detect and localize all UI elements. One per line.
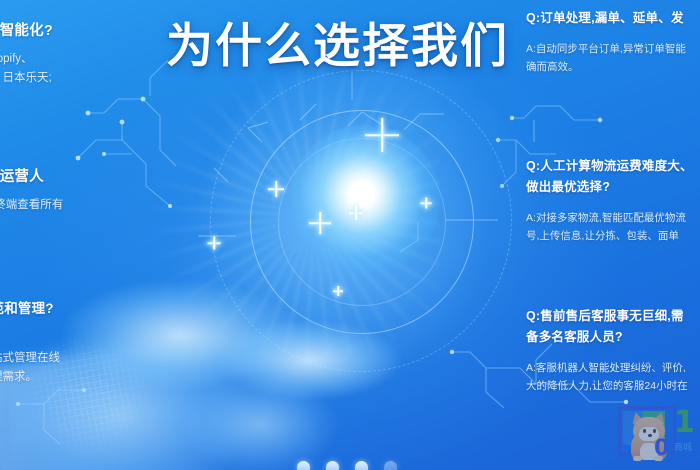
qa-question: Q:订单处理,漏单、延单、发 [526,8,700,29]
qa-question: Q:人工计算物流运费难度大、 做出最优选择? [526,156,700,198]
bottom-icon [384,461,397,470]
feature-block: 功能繁琐,欠智能化? 计,深度对接Shopify、 wish、速卖通、日本乐天; [0,22,207,88]
feature-title: 码无统一规范和管理? 繁琐无效率? [0,298,207,340]
feature-body-line: 天的工作量,多终端查看所有 [0,196,207,215]
bottom-icon [297,461,310,470]
feature-title: 全手动统计,运营人 [0,168,207,187]
qa-answer: A:对接多家物流,智能匹配最优物流 号,上传信息,让分拣、包装、面单 [526,209,700,245]
qa-question-line: Q:售前售后客服事无巨细,需 [526,306,700,327]
feature-body-line: 批量导入。一站式管理在线 [0,349,207,368]
watermark-digit-zero: 0 [654,438,669,460]
qa-answer-line: 确而高效。 [526,58,700,76]
watermark: 0 1 商城 [612,402,700,464]
qa-question: Q:售前售后客服事无巨细,需 备多名客服人员? [526,306,700,348]
qa-block: Q:人工计算物流运费难度大、 做出最优选择? A:对接多家物流,智能匹配最优物流… [526,156,700,245]
bottom-icon-row [297,461,397,470]
qa-question-line: Q:人工计算物流运费难度大、 [526,156,700,177]
mascot-eye-right [653,429,656,433]
feature-block: 码无统一规范和管理? 繁琐无效率? 批量导入。一站式管理在线 样化的产品管理需求… [0,298,207,387]
light-core [290,125,440,275]
bottom-icon [355,461,368,470]
feature-block: 全手动统计,运营人 天的工作量,多终端查看所有 情况。 [0,168,207,234]
watermark-caption: 商城 [674,442,692,453]
feature-body: 批量导入。一站式管理在线 样化的产品管理需求。 [0,349,207,387]
feature-body-line: 样化的产品管理需求。 [0,368,207,387]
feature-body: 计,深度对接Shopify、 wish、速卖通、日本乐天; [0,50,207,88]
watermark-digit-one: 1 [674,408,695,438]
qa-question-line: 备多名客服人员? [526,327,700,348]
hand-reaching-glowing-light-graphic [150,95,550,470]
mascot-paw-left [633,456,642,461]
qa-block: Q:售前售后客服事无巨细,需 备多名客服人员? A:客服机器人智能处理纠纷、评价… [526,306,700,395]
qa-question-line: 做出最优选择? [526,177,700,198]
qa-answer-line: A:对接多家物流,智能匹配最优物流 [526,209,700,227]
feature-body-line: 情况。 [0,215,207,234]
feature-body-line: wish、速卖通、日本乐天; [0,69,207,88]
qa-answer-line: 大的降低人力,让您的客服24小时在 [526,377,700,395]
feature-body-line: 计,深度对接Shopify、 [0,50,207,69]
mascot-nose [648,434,652,437]
right-qa-column: Q:订单处理,漏单、延单、发 A:自动同步平台订单,异常订单智能 确而高效。 Q… [518,0,700,470]
page-title: 为什么选择我们 [166,18,509,74]
feature-title: 功能繁琐,欠智能化? [0,22,207,41]
qa-block: Q:订单处理,漏单、延单、发 A:自动同步平台订单,异常订单智能 确而高效。 [526,8,700,76]
qa-answer-line: 号,上传信息,让分拣、包装、面单 [526,227,700,245]
qa-answer-line: A:自动同步平台订单,异常订单智能 [526,40,700,58]
mascot-eye-left [643,429,646,433]
promo-banner: 为什么选择我们 功能繁琐,欠智能化? 计,深度对接Shopify、 wish、速… [0,0,700,470]
qa-answer-line: A:客服机器人智能处理纠纷、评价, [526,359,700,377]
qa-answer: A:客服机器人智能处理纠纷、评价, 大的降低人力,让您的客服24小时在 [526,359,700,395]
qa-answer: A:自动同步平台订单,异常订单智能 确而高效。 [526,40,700,76]
left-feature-column: 功能繁琐,欠智能化? 计,深度对接Shopify、 wish、速卖通、日本乐天;… [0,0,210,470]
bottom-icon [326,461,339,470]
qa-question-line: Q:订单处理,漏单、延单、发 [526,8,700,29]
feature-body: 天的工作量,多终端查看所有 情况。 [0,196,207,234]
